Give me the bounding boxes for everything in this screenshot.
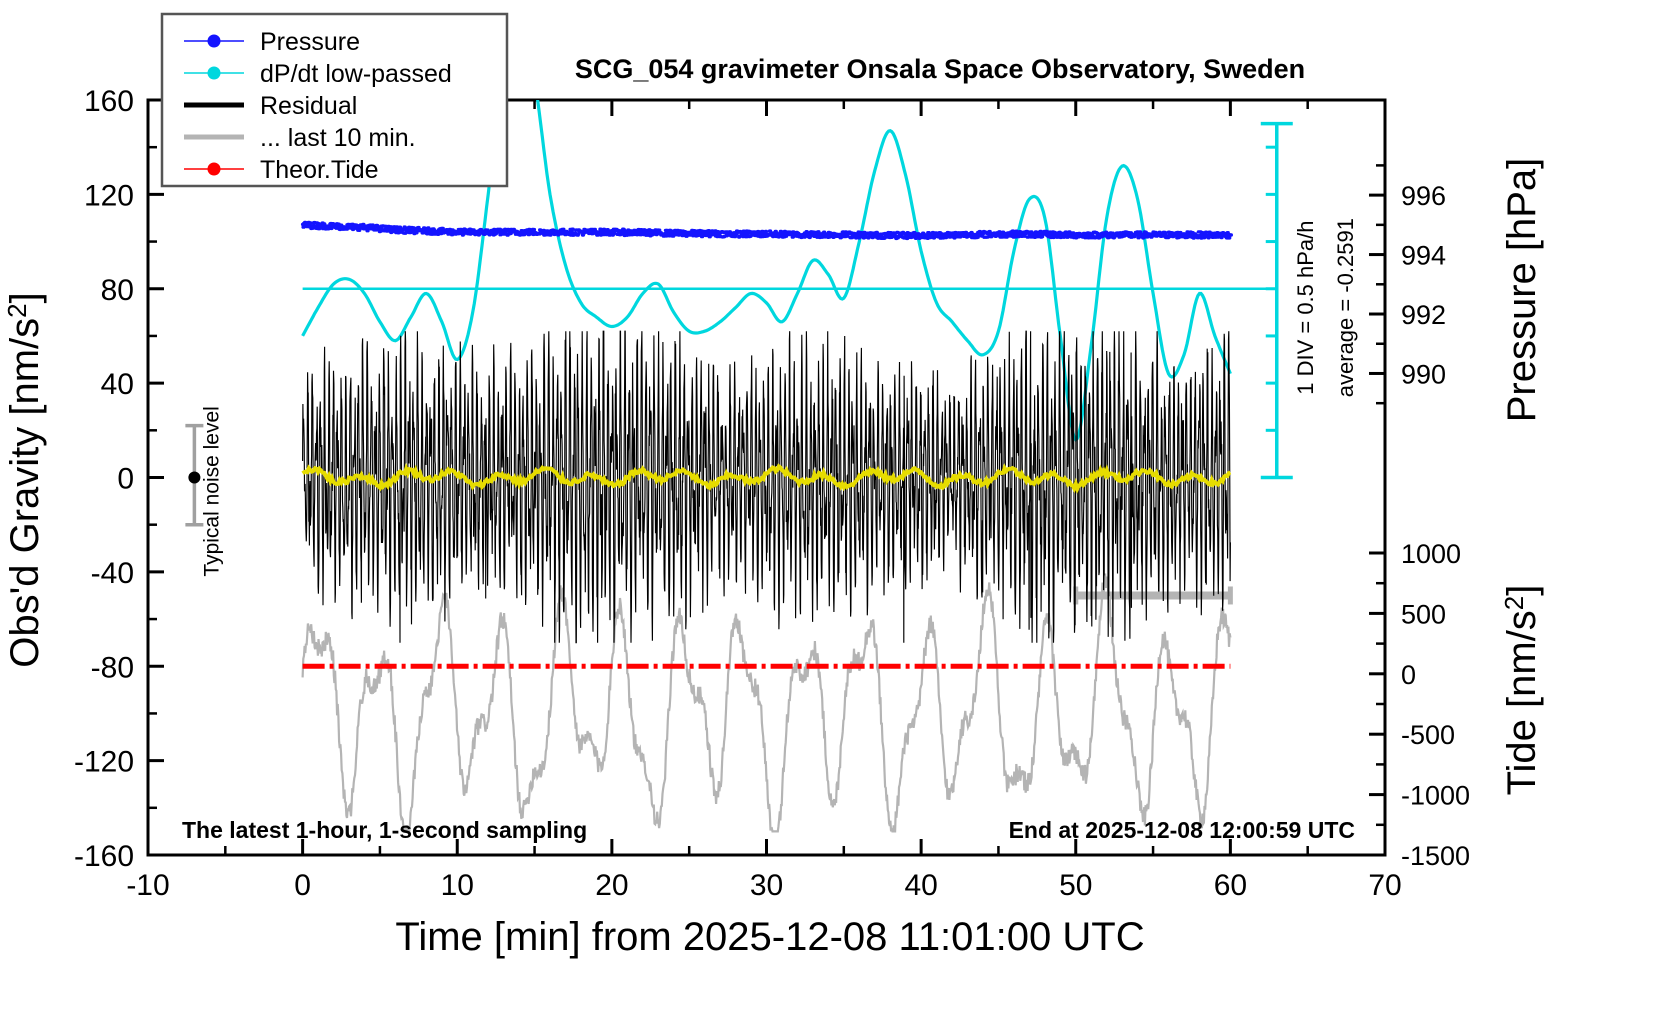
y-axis-tick-label: -80	[91, 651, 134, 684]
legend-label-2[interactable]: Residual	[260, 92, 357, 120]
x-axis-tick-label: 40	[904, 869, 937, 902]
legend-label-0[interactable]: Pressure	[260, 28, 360, 56]
pressure-axis-tick-label: 990	[1401, 359, 1446, 389]
y-axis-label: Obs'd Gravity [nm/s2]	[2, 292, 47, 668]
noise-level-label: Typical noise level	[200, 406, 223, 576]
pressure-axis-tick-label: 996	[1401, 181, 1446, 211]
y-axis-tick-label: -120	[74, 746, 134, 779]
chart-figure: -160-120-80-4004080120160-10010203040506…	[0, 0, 1660, 1020]
x-axis-tick-label: 10	[441, 869, 474, 902]
y-axis-tick-label: 80	[101, 274, 134, 307]
tide-axis-tick-label: 0	[1401, 660, 1416, 690]
x-axis-tick-label: 20	[595, 869, 628, 902]
tide-axis-tick-label: -1000	[1401, 781, 1470, 811]
y-axis-tick-label: -160	[74, 840, 134, 873]
scalebar-average-label: average = -0.2591	[1333, 218, 1358, 397]
y-axis-tick-label: -40	[91, 557, 134, 590]
pressure-axis-label: Pressure [hPa]	[1500, 158, 1544, 423]
y-axis-tick-label: 120	[84, 179, 134, 212]
x-axis-tick-label: 70	[1368, 869, 1401, 902]
page-title: SCG_054 gravimeter Onsala Space Observat…	[575, 54, 1305, 84]
tide-axis-tick-label: -500	[1401, 720, 1455, 750]
tide-axis-tick-label: 500	[1401, 599, 1446, 629]
x-axis-tick-label: 30	[750, 869, 783, 902]
legend-marker-1	[208, 67, 221, 80]
noise-marker-dot	[188, 472, 200, 484]
tide-axis-tick-label: 1000	[1401, 539, 1461, 569]
legend-label-4[interactable]: Theor.Tide	[260, 156, 379, 184]
tide-axis-label: Tide [nm/s2]	[1499, 585, 1544, 796]
x-axis-label: Time [min] from 2025-12-08 11:01:00 UTC	[395, 915, 1144, 959]
legend-label-1[interactable]: dP/dt low-passed	[260, 60, 452, 88]
pressure-axis-tick-label: 992	[1401, 300, 1446, 330]
x-axis-tick-label: 0	[294, 869, 311, 902]
x-axis-tick-label: 60	[1214, 869, 1247, 902]
scalebar-division-label: 1 DIV = 0.5 hPa/h	[1293, 220, 1318, 394]
legend-marker-4	[208, 163, 221, 176]
tide-axis-tick-label: -1500	[1401, 841, 1470, 871]
y-axis-tick-label: 0	[117, 463, 134, 496]
y-axis-tick-label: 160	[84, 85, 134, 118]
bottom-left-annotation: The latest 1-hour, 1-second sampling	[182, 817, 587, 843]
gravimeter-plot: -160-120-80-4004080120160-10010203040506…	[0, 0, 1660, 1020]
x-axis-tick-label: -10	[126, 869, 169, 902]
x-axis-tick-label: 50	[1059, 869, 1092, 902]
pressure-axis-tick-label: 994	[1401, 241, 1446, 271]
y-axis-tick-label: 40	[101, 368, 134, 401]
legend-label-3[interactable]: ... last 10 min.	[260, 124, 416, 152]
bottom-right-annotation: End at 2025-12-08 12:00:59 UTC	[1009, 817, 1355, 843]
legend-marker-0	[208, 35, 221, 48]
